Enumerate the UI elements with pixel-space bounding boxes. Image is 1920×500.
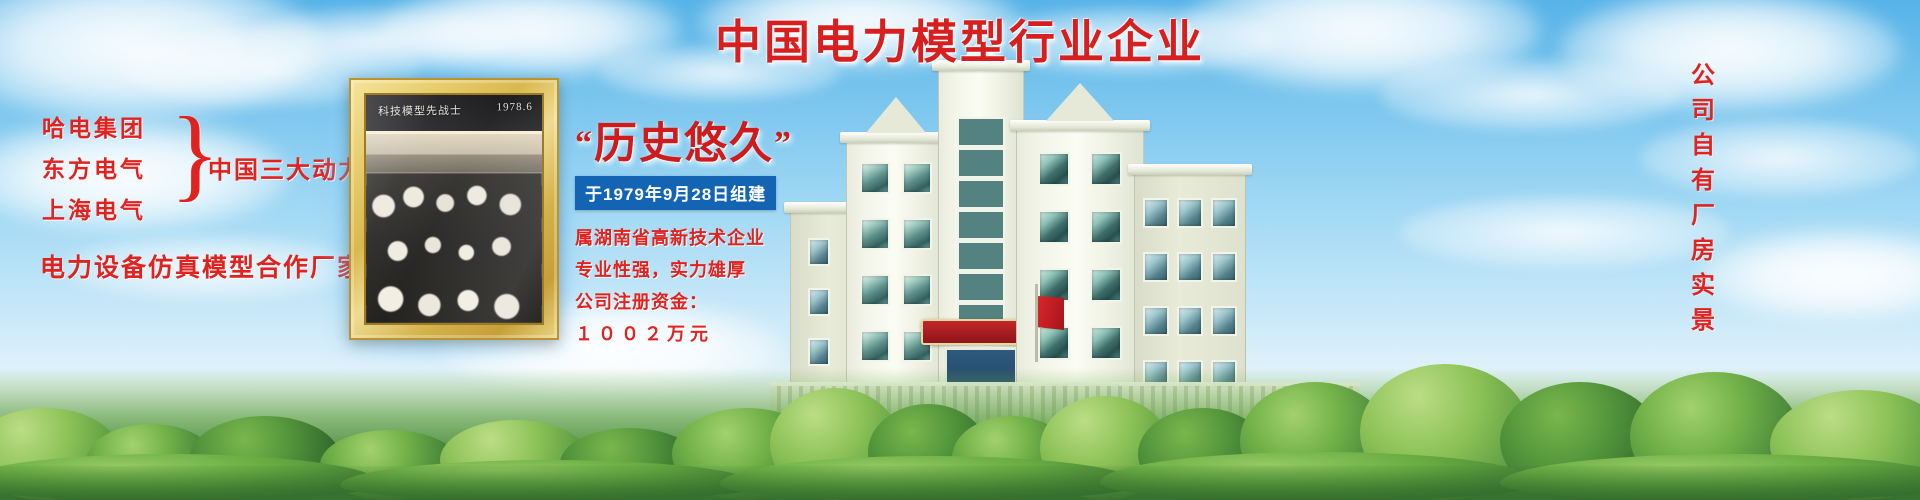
grass-strip [0,466,1920,500]
roof-peak [1046,83,1114,121]
cornice [1010,120,1150,131]
vertical-char: 厂 [1681,198,1725,233]
window-row [1135,251,1245,283]
vertical-char: 公 [1681,58,1725,93]
roof-peak [866,97,926,133]
history-headline: “历史悠久” [575,118,835,170]
flag-pole [1035,284,1038,362]
page-title: 中国电力模型行业企业 [0,6,1920,72]
list-item: 东方电气 [42,149,146,190]
list-item: １００２万元 [575,318,835,350]
cornice [1128,164,1252,175]
quote-open-icon: “ [575,125,594,162]
promo-banner: 中国电力模型行业企业 哈电集团 东方电气 上海电气 } 中国三大动力 电力设备仿… [0,0,1920,500]
vertical-char: 实 [1681,268,1725,303]
list-item: 上海电气 [42,190,146,231]
mid-text-block: “历史悠久” 于1979年9月28日组建 属湖南省高新技术企业 专业性强，实力雄… [575,118,835,350]
vertical-char: 司 [1681,93,1725,128]
window-row [1135,197,1245,229]
photo-frame-inner: 科技模型先战士 1978.6 [364,93,544,325]
photo-frame: 科技模型先战士 1978.6 [349,78,559,340]
window-row [1017,209,1143,245]
history-headline-text: 历史悠久 [594,120,774,168]
list-item: 哈电集团 [42,108,146,149]
list-item: 专业性强，实力雄厚 [575,254,835,286]
vertical-char: 景 [1681,303,1725,338]
window-row [847,217,945,251]
cornice [840,132,952,143]
left-text-block: 哈电集团 东方电气 上海电气 } 中国三大动力 电力设备仿真模型合作厂家 [30,108,380,284]
stairwell-glass [957,117,1005,325]
photo-glass-gloss [366,95,542,323]
vertical-char: 有 [1681,163,1725,198]
window-row [847,273,945,307]
list-item: 属湖南省高新技术企业 [575,222,835,254]
list-item: 公司注册资金： [575,286,835,318]
window-row [1135,305,1245,337]
vertical-char: 自 [1681,128,1725,163]
red-flag [1038,296,1064,330]
quote-close-icon: ” [774,125,793,162]
window-row [847,161,945,195]
vertical-caption: 公 司 自 有 厂 房 实 景 [1681,58,1725,338]
vertical-char: 房 [1681,233,1725,268]
partner-brand-list: 哈电集团 东方电气 上海电气 [42,108,146,231]
company-facts-list: 属湖南省高新技术企业 专业性强，实力雄厚 公司注册资金： １００２万元 [575,222,835,350]
founding-date-badge: 于1979年9月28日组建 [575,176,776,210]
left-bottom-label: 电力设备仿真模型合作厂家 [40,248,380,284]
window-row [1017,151,1143,187]
